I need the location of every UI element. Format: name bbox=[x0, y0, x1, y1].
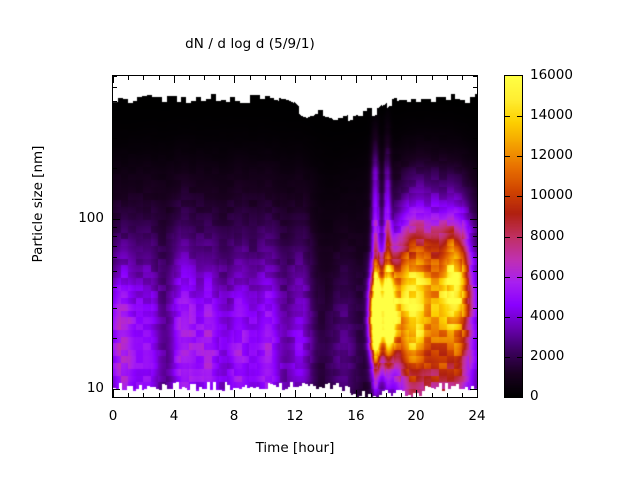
y-axis-label: Particle size [nm] bbox=[30, 104, 46, 304]
y-minor-tick-right bbox=[473, 308, 477, 309]
x-axis-label: Time [hour] bbox=[112, 440, 478, 456]
x-minor-tick-top bbox=[432, 76, 433, 80]
y-major-tick bbox=[113, 389, 120, 390]
x-tick-label: 8 bbox=[214, 408, 254, 424]
y-minor-tick bbox=[113, 76, 117, 77]
colorbar-tick-left bbox=[505, 317, 510, 318]
colorbar-tick-right bbox=[517, 357, 522, 358]
figure-root: dN / d log d (5/9/1) Particle size [nm] … bbox=[0, 0, 640, 480]
colorbar-tick-left bbox=[505, 196, 510, 197]
colorbar-tick-right bbox=[517, 156, 522, 157]
x-minor-tick-top bbox=[128, 76, 129, 80]
colorbar-tick-label: 12000 bbox=[530, 147, 573, 163]
x-minor-tick-top bbox=[371, 76, 372, 80]
x-minor-tick bbox=[447, 393, 448, 397]
x-minor-tick-top bbox=[341, 76, 342, 80]
x-major-tick-top bbox=[234, 76, 235, 83]
x-minor-tick bbox=[386, 393, 387, 397]
y-minor-tick bbox=[113, 101, 117, 102]
x-tick-label: 4 bbox=[154, 408, 194, 424]
y-minor-tick bbox=[113, 397, 117, 398]
x-minor-tick bbox=[128, 393, 129, 397]
x-major-tick bbox=[174, 390, 175, 397]
x-minor-tick bbox=[159, 393, 160, 397]
x-minor-tick bbox=[189, 393, 190, 397]
x-major-tick bbox=[356, 390, 357, 397]
x-major-tick bbox=[416, 390, 417, 397]
x-minor-tick-top bbox=[386, 76, 387, 80]
colorbar-tick-label: 10000 bbox=[530, 187, 573, 203]
heatmap-canvas bbox=[113, 76, 477, 397]
colorbar-tick-label: 4000 bbox=[530, 308, 564, 324]
colorbar-tick-label: 8000 bbox=[530, 228, 564, 244]
x-major-tick bbox=[234, 390, 235, 397]
x-minor-tick-top bbox=[447, 76, 448, 80]
y-minor-tick bbox=[113, 338, 117, 339]
x-major-tick-top bbox=[477, 76, 478, 83]
colorbar-tick-left bbox=[505, 357, 510, 358]
x-minor-tick bbox=[371, 393, 372, 397]
colorbar-tick-right bbox=[517, 116, 522, 117]
x-minor-tick bbox=[325, 393, 326, 397]
y-minor-tick-right bbox=[473, 101, 477, 102]
colorbar-tick-left bbox=[505, 237, 510, 238]
x-minor-tick bbox=[250, 393, 251, 397]
x-minor-tick-top bbox=[401, 76, 402, 80]
y-minor-tick-right bbox=[473, 117, 477, 118]
y-tick-label: 10 bbox=[64, 380, 104, 396]
y-minor-tick bbox=[113, 287, 117, 288]
x-minor-tick bbox=[219, 393, 220, 397]
y-minor-tick-right bbox=[473, 246, 477, 247]
x-major-tick bbox=[477, 390, 478, 397]
x-minor-tick bbox=[143, 393, 144, 397]
x-tick-label: 0 bbox=[93, 408, 133, 424]
colorbar-tick-right bbox=[517, 196, 522, 197]
y-minor-tick bbox=[113, 227, 117, 228]
y-tick-label: 100 bbox=[64, 210, 104, 226]
x-minor-tick-top bbox=[310, 76, 311, 80]
y-minor-tick bbox=[113, 308, 117, 309]
x-minor-tick bbox=[280, 393, 281, 397]
y-minor-tick-right bbox=[473, 271, 477, 272]
x-minor-tick-top bbox=[325, 76, 326, 80]
colorbar-tick-label: 14000 bbox=[530, 107, 573, 123]
x-major-tick bbox=[295, 390, 296, 397]
y-minor-tick bbox=[113, 271, 117, 272]
x-minor-tick-top bbox=[143, 76, 144, 80]
colorbar-tick-label: 0 bbox=[530, 388, 539, 404]
x-minor-tick-top bbox=[189, 76, 190, 80]
y-minor-tick bbox=[113, 87, 117, 88]
colorbar-tick-label: 6000 bbox=[530, 268, 564, 284]
x-minor-tick-top bbox=[265, 76, 266, 80]
colorbar-tick-left bbox=[505, 116, 510, 117]
y-major-tick-right bbox=[470, 389, 477, 390]
x-minor-tick-top bbox=[280, 76, 281, 80]
x-minor-tick bbox=[432, 393, 433, 397]
x-major-tick bbox=[113, 390, 114, 397]
x-major-tick-top bbox=[295, 76, 296, 83]
y-minor-tick bbox=[113, 168, 117, 169]
y-minor-tick bbox=[113, 257, 117, 258]
x-tick-label: 24 bbox=[457, 408, 497, 424]
colorbar-tick-left bbox=[505, 277, 510, 278]
y-major-tick bbox=[113, 219, 120, 220]
colorbar-tick-right bbox=[517, 317, 522, 318]
x-minor-tick-top bbox=[204, 76, 205, 80]
x-minor-tick-top bbox=[159, 76, 160, 80]
x-minor-tick bbox=[341, 393, 342, 397]
y-minor-tick-right bbox=[473, 227, 477, 228]
y-minor-tick-right bbox=[473, 87, 477, 88]
heatmap-plot-area bbox=[112, 75, 478, 398]
y-minor-tick-right bbox=[473, 168, 477, 169]
x-tick-label: 20 bbox=[396, 408, 436, 424]
x-minor-tick-top bbox=[250, 76, 251, 80]
x-major-tick-top bbox=[356, 76, 357, 83]
y-minor-tick-right bbox=[473, 138, 477, 139]
x-minor-tick bbox=[204, 393, 205, 397]
y-minor-tick-right bbox=[473, 338, 477, 339]
x-minor-tick bbox=[462, 393, 463, 397]
colorbar-tick-label: 2000 bbox=[530, 348, 564, 364]
colorbar-tick-right bbox=[517, 277, 522, 278]
y-minor-tick-right bbox=[473, 236, 477, 237]
x-minor-tick bbox=[401, 393, 402, 397]
x-major-tick-top bbox=[416, 76, 417, 83]
y-minor-tick-right bbox=[473, 76, 477, 77]
x-minor-tick-top bbox=[462, 76, 463, 80]
y-minor-tick bbox=[113, 246, 117, 247]
x-minor-tick bbox=[265, 393, 266, 397]
x-tick-label: 12 bbox=[275, 408, 315, 424]
y-major-tick-right bbox=[470, 219, 477, 220]
colorbar-tick-left bbox=[505, 156, 510, 157]
y-minor-tick-right bbox=[473, 287, 477, 288]
y-minor-tick bbox=[113, 117, 117, 118]
y-minor-tick bbox=[113, 236, 117, 237]
x-major-tick-top bbox=[174, 76, 175, 83]
chart-title: dN / d log d (5/9/1) bbox=[0, 36, 500, 52]
colorbar-tick-right bbox=[517, 237, 522, 238]
colorbar-tick-label: 16000 bbox=[530, 67, 573, 83]
x-minor-tick-top bbox=[219, 76, 220, 80]
x-major-tick-top bbox=[113, 76, 114, 83]
x-minor-tick bbox=[310, 393, 311, 397]
y-minor-tick bbox=[113, 138, 117, 139]
x-tick-label: 16 bbox=[336, 408, 376, 424]
y-minor-tick-right bbox=[473, 257, 477, 258]
